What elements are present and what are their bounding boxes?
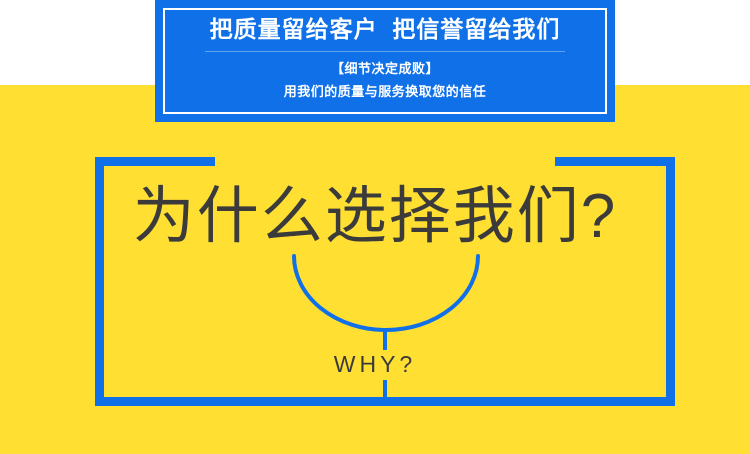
header-banner: 把质量留给客户 把信誉留给我们 【细节决定成败】 用我们的质量与服务换取您的信任 [155,0,615,122]
banner-divider-rule [205,51,565,52]
banner-content: 把质量留给客户 把信誉留给我们 【细节决定成败】 用我们的质量与服务换取您的信任 [155,0,615,122]
promo-banner-graphic: 把质量留给客户 把信誉留给我们 【细节决定成败】 用我们的质量与服务换取您的信任… [0,0,750,454]
banner-headline: 把质量留给客户 把信誉留给我们 [210,17,561,42]
why-label: WHY? [0,350,750,380]
main-headline: 为什么选择我们? [0,186,750,248]
banner-subtitle-secondary: 用我们的质量与服务换取您的信任 [284,83,487,101]
banner-subtitle-primary: 【细节决定成败】 [331,60,439,78]
yellow-background-panel [0,85,750,454]
why-label-text: WHY? [326,350,424,380]
